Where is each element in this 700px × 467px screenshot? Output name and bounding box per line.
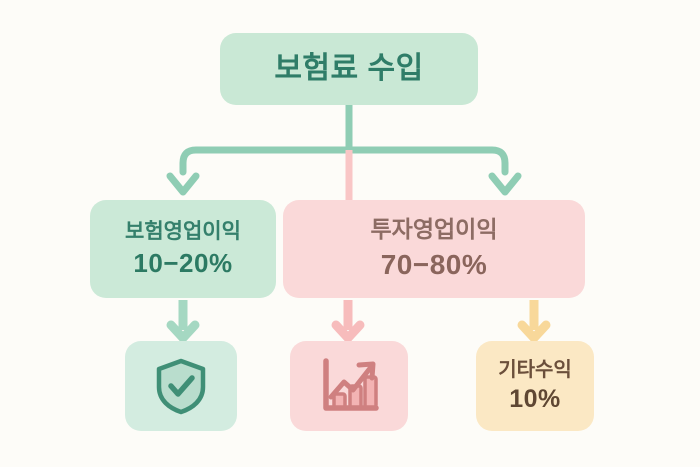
leaf-other-income-label: 기타수익 [498, 359, 572, 381]
connector-arrow-right [492, 176, 518, 192]
node-investment-operating-profit[interactable]: 투자영업이익 70−80% [283, 200, 585, 298]
node-insurance-operating-profit-value: 10−20% [133, 249, 232, 278]
leaf-shield-check[interactable] [125, 341, 237, 431]
node-premium-income-label: 보험료 수입 [274, 52, 423, 86]
connector-arrowhead-investment-to-chart [336, 325, 360, 338]
shield-check-icon [153, 357, 209, 415]
diagram-canvas: 보험료 수입 보험영업이익 10−20% 투자영업이익 70−80% [0, 0, 700, 467]
node-investment-operating-profit-label: 투자영업이익 [371, 217, 498, 243]
bar-chart-up-icon [317, 356, 381, 416]
node-investment-operating-profit-value: 70−80% [381, 249, 488, 280]
connector-arrowhead-insurance-to-shield [171, 325, 195, 338]
leaf-other-income[interactable]: 기타수익 10% [476, 341, 594, 431]
leaf-growth-chart[interactable] [290, 341, 408, 431]
connector-branch-left [183, 150, 349, 172]
connector-branch-right [349, 150, 505, 172]
connector-arrowhead-investment-to-other [522, 325, 546, 338]
connector-arrow-left [170, 176, 196, 192]
node-insurance-operating-profit[interactable]: 보험영업이익 10−20% [90, 200, 276, 298]
node-premium-income[interactable]: 보험료 수입 [220, 33, 478, 105]
node-insurance-operating-profit-label: 보험영업이익 [125, 220, 241, 244]
leaf-other-income-value: 10% [509, 385, 561, 413]
